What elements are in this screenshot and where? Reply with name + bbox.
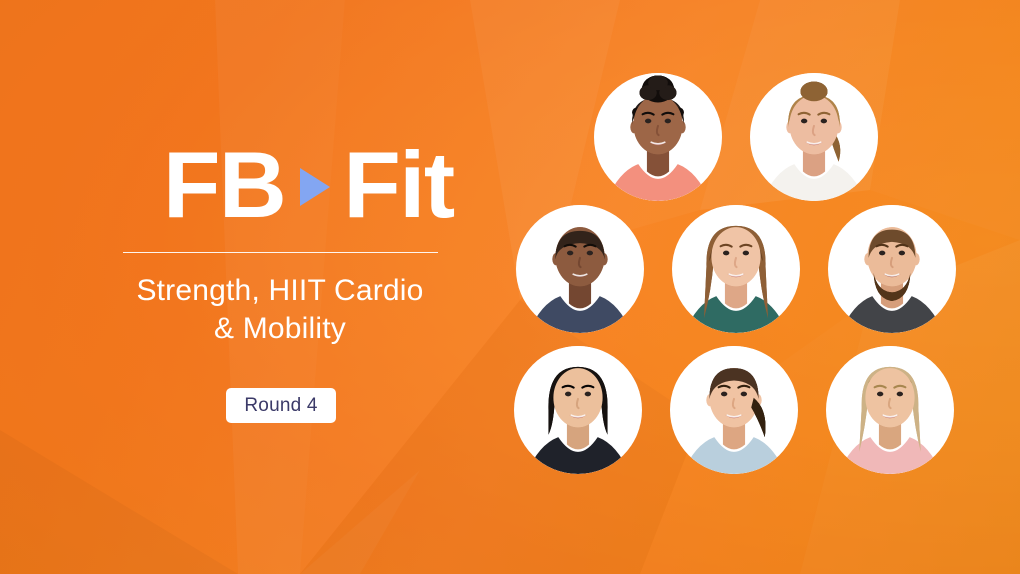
trainer-portrait-image — [514, 346, 642, 474]
trainer-portrait-image — [672, 205, 800, 333]
trainer-avatar-5[interactable] — [828, 205, 956, 333]
trainer-portrait-image — [750, 73, 878, 201]
trainer-avatar-2[interactable] — [750, 73, 878, 201]
promo-banner: FB Fit Strength, HIIT Cardio & Mobility … — [0, 0, 1020, 574]
trainer-avatar-1[interactable] — [594, 73, 722, 201]
trainer-avatar-7[interactable] — [670, 346, 798, 474]
trainer-portrait-image — [828, 205, 956, 333]
trainer-avatar-8[interactable] — [826, 346, 954, 474]
trainer-portrait-image — [826, 346, 954, 474]
trainer-portrait-image — [594, 73, 722, 201]
trainer-avatar-grid — [0, 0, 1020, 574]
trainer-avatar-3[interactable] — [516, 205, 644, 333]
trainer-avatar-6[interactable] — [514, 346, 642, 474]
trainer-portrait-image — [516, 205, 644, 333]
trainer-portrait-image — [670, 346, 798, 474]
trainer-avatar-4[interactable] — [672, 205, 800, 333]
